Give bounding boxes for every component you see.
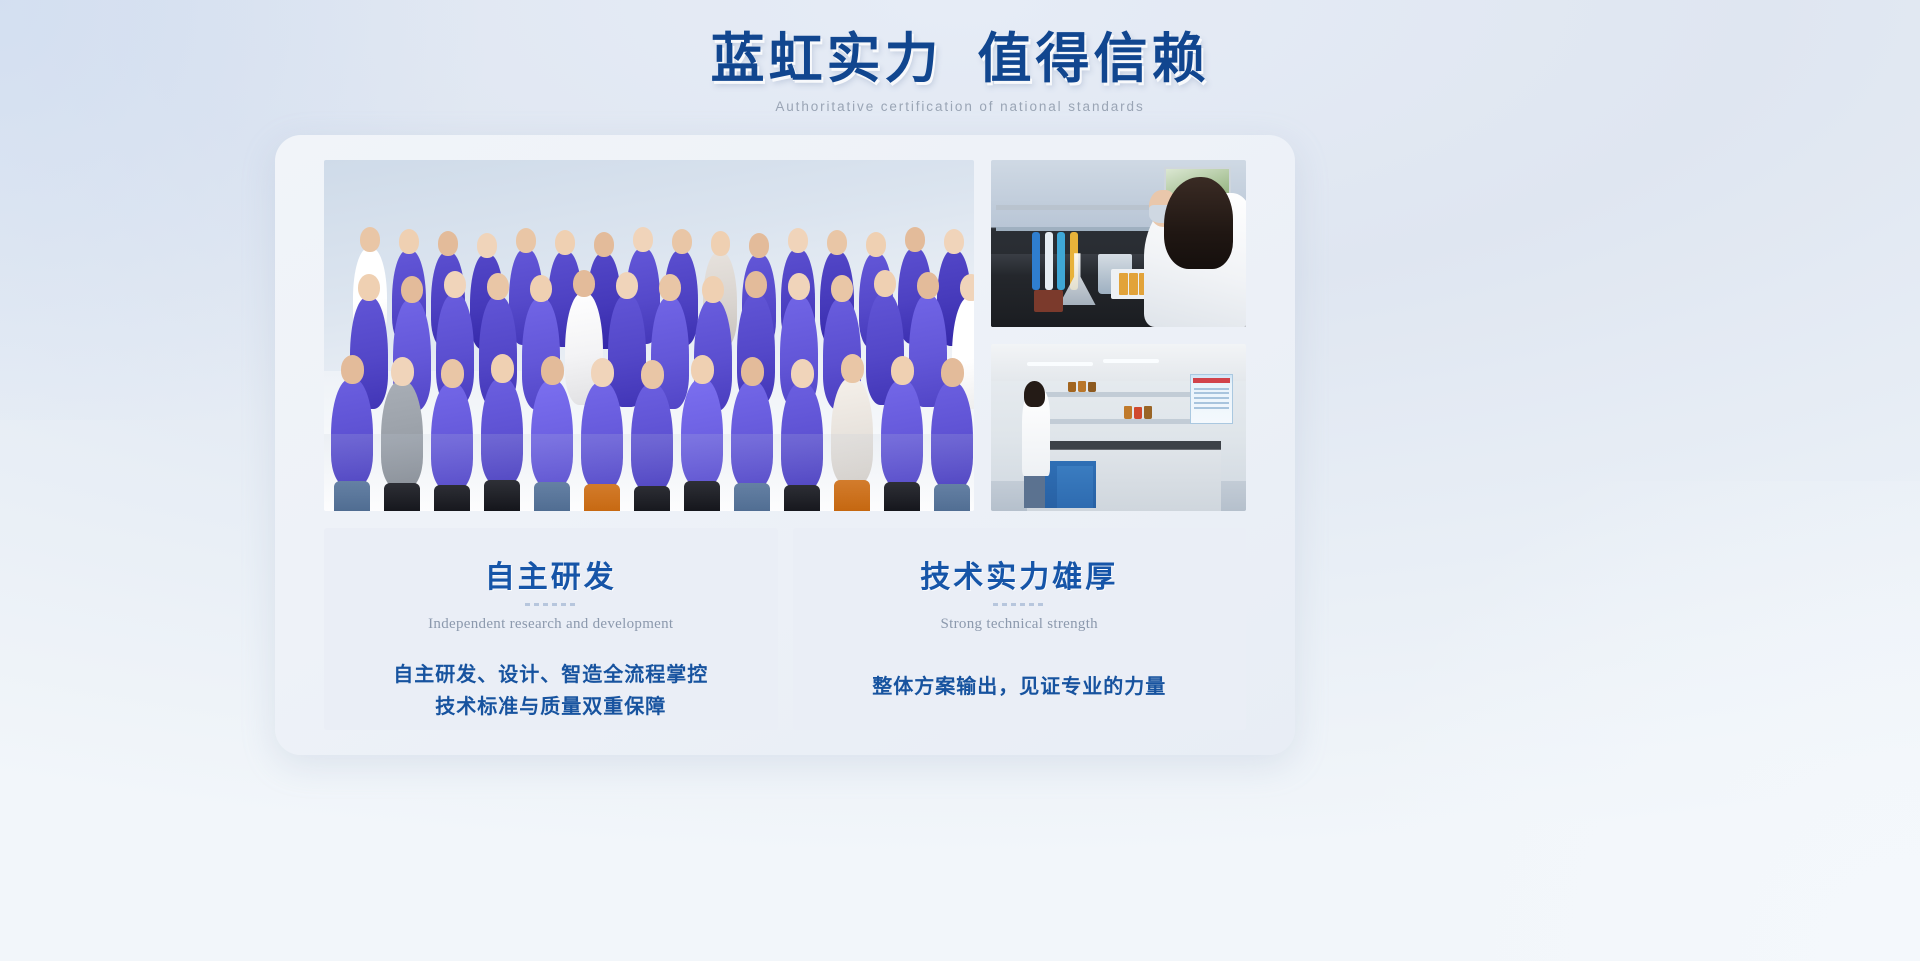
feature-card-rnd[interactable]: 自主研发 Independent research and developmen… [324, 528, 778, 730]
shelf-bottle-6 [1144, 406, 1152, 419]
lab-pipetting-photo [991, 160, 1246, 327]
poster-line-1 [1194, 388, 1229, 390]
card-body-text: 整体方案输出，见证专业的力量 [793, 671, 1247, 703]
card-divider-dashed [525, 603, 577, 606]
team-member-head [477, 233, 497, 258]
page-header: 蓝虹实力 值得信赖 Authoritative certification of… [0, 28, 1920, 114]
shelf-bottle-2 [1078, 381, 1086, 393]
sample-vial-2 [1129, 273, 1138, 295]
poster-line-2 [1194, 392, 1229, 394]
ceiling-light-2 [1103, 359, 1159, 363]
team-member-head [399, 229, 419, 254]
side-photo-column [991, 160, 1246, 511]
team-member-head [358, 274, 380, 301]
team-member-head [702, 276, 724, 303]
feature-card-technical-strength[interactable]: 技术实力雄厚 Strong technical strength 整体方案输出，… [793, 528, 1247, 730]
card-body-line: 技术标准与质量双重保障 [324, 691, 778, 723]
team-member-head [960, 274, 974, 301]
card-subtitle-en: Independent research and development [324, 616, 778, 633]
pipette-1 [1032, 232, 1040, 290]
team-member-head [891, 356, 914, 385]
team-member-head [841, 354, 864, 383]
team-member-head [917, 272, 939, 299]
team-member-head [401, 276, 423, 303]
team-member-head [874, 270, 896, 297]
content-panel: 自主研发 Independent research and developmen… [275, 135, 1295, 755]
shelf-bottle-1 [1068, 382, 1076, 392]
team-member-head [555, 230, 575, 255]
card-subtitle-en: Strong technical strength [793, 616, 1247, 633]
poster-title-bar [1193, 378, 1229, 383]
feature-cards: 自主研发 Independent research and developmen… [324, 528, 1246, 730]
background-glow-bottom-right [1220, 481, 1920, 961]
poster-line-5 [1194, 407, 1229, 409]
team-member-head [591, 358, 614, 387]
team-member-head [866, 232, 886, 257]
blue-cabinet-2 [1057, 466, 1093, 508]
technician-hair [1024, 381, 1044, 408]
team-member-head [444, 271, 466, 298]
sample-vial-1 [1119, 273, 1128, 295]
team-member-head [831, 275, 853, 302]
floor-reflection [324, 434, 974, 511]
team-member-head [941, 358, 964, 387]
reagent-bottle-2 [1047, 290, 1063, 312]
team-member-head [641, 360, 664, 389]
team-member-head [749, 233, 769, 258]
team-member-head [659, 274, 681, 301]
team-member-head [944, 229, 964, 254]
page-subtitle: Authoritative certification of national … [0, 99, 1920, 114]
team-member-head [616, 272, 638, 299]
card-body-line: 自主研发、设计、智造全流程掌控 [324, 659, 778, 691]
reagent-shelf-lower [1037, 419, 1190, 424]
shelf-bottle-5 [1134, 407, 1142, 419]
team-member-head [711, 231, 731, 256]
team-member-head [530, 275, 552, 302]
team-member-head [516, 228, 536, 253]
team-member-head [438, 231, 458, 256]
team-member-head [827, 230, 847, 255]
team-member-head [788, 228, 808, 253]
card-body-text: 自主研发、设计、智造全流程掌控 技术标准与质量双重保障 [324, 659, 778, 724]
team-member-head [672, 229, 692, 254]
team-member-head [691, 355, 714, 384]
technician-jeans [1024, 471, 1044, 508]
card-title: 自主研发 [324, 552, 778, 596]
pipette-3 [1057, 232, 1065, 290]
team-member-head [441, 359, 464, 388]
lab-room-photo [991, 344, 1246, 511]
ceiling-light-1 [1027, 362, 1093, 366]
team-group-photo [324, 160, 974, 511]
team-member-head [633, 227, 653, 252]
poster-line-4 [1194, 402, 1229, 404]
team-member-head [788, 273, 810, 300]
page-title: 蓝虹实力 值得信赖 [0, 28, 1920, 90]
team-member-head [741, 357, 764, 386]
card-divider-dashed [993, 603, 1045, 606]
reagent-shelf-upper [1037, 392, 1190, 397]
team-member-head [341, 355, 364, 384]
pipette-2 [1045, 232, 1053, 290]
team-member-head [360, 227, 380, 252]
team-member-head [745, 271, 767, 298]
team-member-head [491, 354, 514, 383]
shelf-bottle-4 [1124, 406, 1132, 419]
team-member-head [905, 227, 925, 252]
researcher-hair [1164, 177, 1233, 269]
team-member-head [541, 356, 564, 385]
poster-line-3 [1194, 397, 1229, 399]
team-member-head [573, 270, 595, 297]
safety-poster [1190, 374, 1233, 424]
team-member-head [791, 359, 814, 388]
team-member-head [391, 357, 414, 386]
card-body-line: 整体方案输出，见证专业的力量 [793, 671, 1247, 703]
photo-gallery [324, 160, 1246, 511]
card-title: 技术实力雄厚 [793, 552, 1247, 596]
team-member-head [594, 232, 614, 257]
shelf-bottle-3 [1088, 382, 1096, 392]
team-member-head [487, 273, 509, 300]
